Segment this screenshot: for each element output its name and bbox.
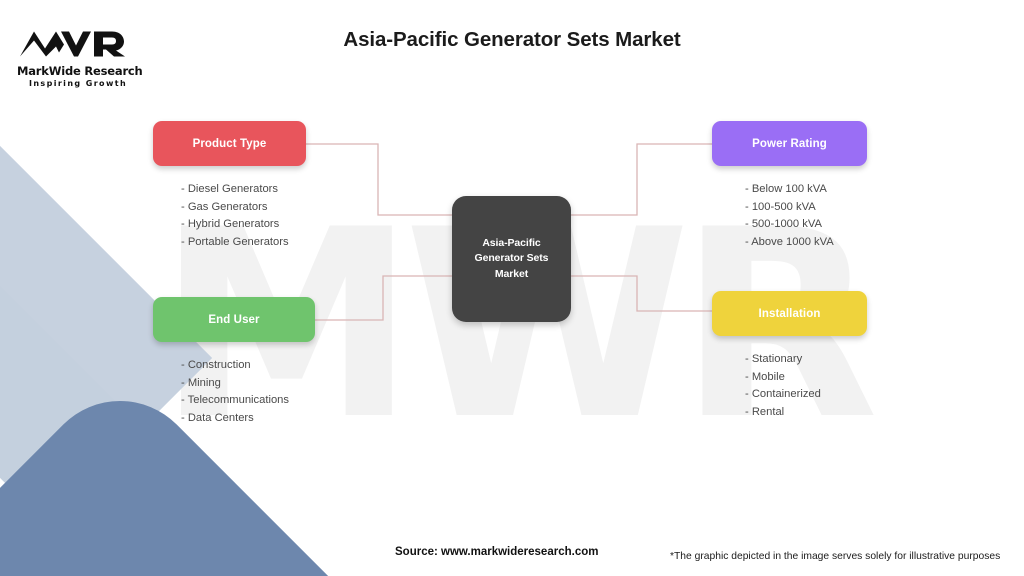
branch-power-rating: Power Rating - Below 100 kVA - 100-500 k… (712, 121, 867, 251)
list-item: - Stationary (745, 351, 867, 369)
branch-header-installation[interactable]: Installation (712, 291, 867, 336)
branch-label-product-type: Product Type (193, 138, 267, 150)
list-item: - Telecommunications (181, 392, 315, 410)
list-item: - Portable Generators (181, 234, 306, 252)
list-item: - 500-1000 kVA (745, 216, 867, 234)
connector-installation (571, 276, 712, 311)
list-item: - Construction (181, 357, 315, 375)
branch-label-power-rating: Power Rating (752, 138, 827, 150)
list-item: - Diesel Generators (181, 181, 306, 199)
slide-canvas: MWR MarkWide Research Inspiring Growth A… (0, 0, 1024, 576)
list-item: - Below 100 kVA (745, 181, 867, 199)
branch-items-installation: - Stationary - Mobile - Containerized - … (712, 351, 867, 421)
branch-label-end-user: End User (208, 314, 259, 326)
branch-items-product-type: - Diesel Generators - Gas Generators - H… (153, 181, 306, 251)
center-node-label: Asia-Pacific Generator Sets Market (452, 236, 571, 282)
branch-header-power-rating[interactable]: Power Rating (712, 121, 867, 166)
branch-installation: Installation - Stationary - Mobile - Con… (712, 291, 867, 421)
list-item: - 100-500 kVA (745, 199, 867, 217)
branch-label-installation: Installation (759, 308, 821, 320)
branch-end-user: End User - Construction - Mining - Telec… (153, 297, 315, 427)
list-item: - Hybrid Generators (181, 216, 306, 234)
list-item: - Gas Generators (181, 199, 306, 217)
list-item: - Rental (745, 404, 867, 422)
list-item: - Containerized (745, 386, 867, 404)
list-item: - Data Centers (181, 410, 315, 428)
center-node[interactable]: Asia-Pacific Generator Sets Market (452, 196, 571, 322)
list-item: - Above 1000 kVA (745, 234, 867, 252)
list-item: - Mining (181, 375, 315, 393)
list-item: - Mobile (745, 369, 867, 387)
branch-items-end-user: - Construction - Mining - Telecommunicat… (153, 357, 315, 427)
connector-product-type (306, 144, 452, 215)
footer-disclaimer: *The graphic depicted in the image serve… (670, 551, 1000, 562)
branch-header-product-type[interactable]: Product Type (153, 121, 306, 166)
branch-header-end-user[interactable]: End User (153, 297, 315, 342)
connector-end-user (315, 276, 452, 320)
branch-product-type: Product Type - Diesel Generators - Gas G… (153, 121, 306, 251)
footer-source: Source: www.markwideresearch.com (395, 546, 598, 558)
branch-items-power-rating: - Below 100 kVA - 100-500 kVA - 500-1000… (712, 181, 867, 251)
